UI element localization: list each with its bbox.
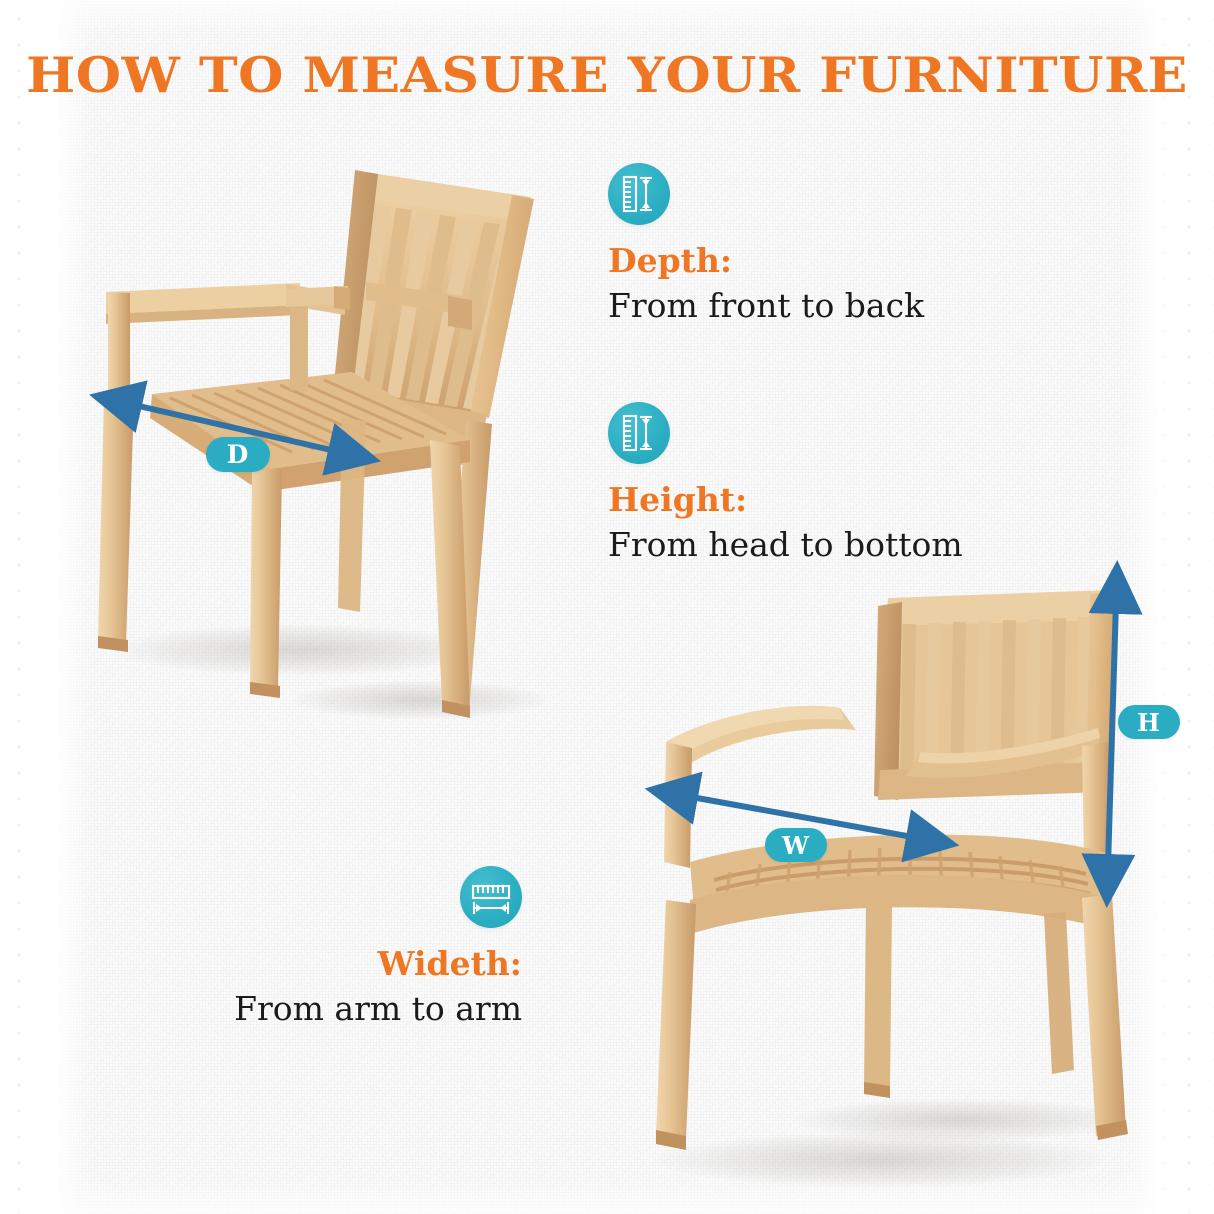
- height-description: From head to bottom: [608, 525, 963, 564]
- height-badge: H: [1118, 705, 1180, 739]
- depth-badge-label: D: [227, 440, 250, 469]
- width-term: Wideth:: [186, 944, 522, 983]
- measurement-width: Wideth: From arm to arm: [186, 866, 522, 1028]
- page-title: HOW TO MEASURE YOUR FURNITURE: [0, 46, 1214, 104]
- width-badge-label: W: [782, 831, 810, 860]
- depth-description: From front to back: [608, 286, 924, 325]
- measurement-height: Height: From head to bottom: [608, 402, 963, 564]
- vertical-ruler-arrow-icon: [608, 163, 670, 225]
- infographic-canvas: HOW TO MEASURE YOUR FURNITURE: [0, 0, 1214, 1214]
- measurement-depth: Depth: From front to back: [608, 163, 924, 325]
- depth-badge: D: [206, 437, 270, 472]
- depth-term: Depth:: [608, 241, 924, 280]
- height-term: Height:: [608, 480, 963, 519]
- width-badge: W: [765, 828, 827, 862]
- horizontal-ruler-arrow-icon: [460, 866, 522, 928]
- vertical-ruler-arrow-icon: [608, 402, 670, 464]
- width-description: From arm to arm: [186, 989, 522, 1028]
- height-badge-label: H: [1137, 708, 1161, 737]
